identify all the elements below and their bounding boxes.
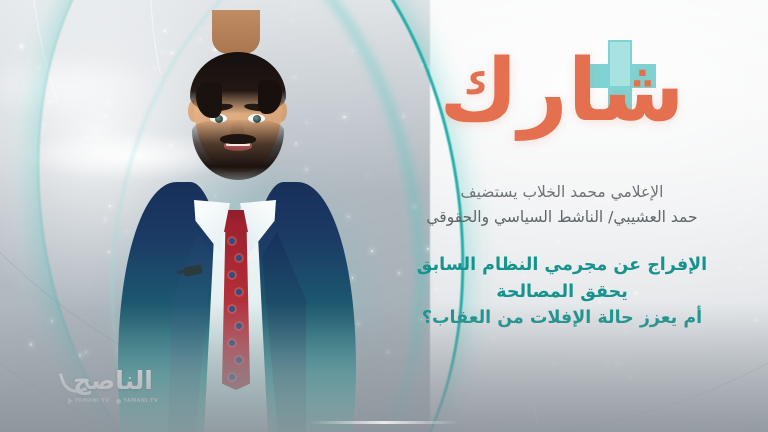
text-column: شارك الإعلامي محمد الخلاب يستضيف حمد الع…: [382, 34, 742, 332]
background-bottom-shade: [0, 302, 768, 432]
necktie-dot: [229, 272, 235, 278]
subtitle-line-1: الإعلامي محمد الخلاب يستضيف: [382, 180, 742, 205]
hair: [190, 52, 286, 114]
necktie-dot: [229, 238, 235, 244]
program-logo: شارك: [382, 34, 742, 154]
promo-graphic: شارك الإعلامي محمد الخلاب يستضيف حمد الع…: [0, 0, 768, 432]
subtitle-line-2: حمد العشيبي/ الناشط السياسي والحقوقي: [382, 205, 742, 230]
subtitle-block: الإعلامي محمد الخلاب يستضيف حمد العشيبي/…: [382, 180, 742, 230]
necktie-dot: [236, 289, 242, 295]
question-line-1: الإفراج عن مجرمي النظام السابق: [382, 252, 742, 279]
neck: [212, 10, 260, 54]
moustache: [220, 134, 256, 144]
program-title: شارك: [382, 34, 742, 134]
question-line-2: يحقق المصالحة: [382, 279, 742, 306]
bottom-accent-bar: [309, 421, 459, 424]
necktie-dot: [236, 255, 242, 261]
